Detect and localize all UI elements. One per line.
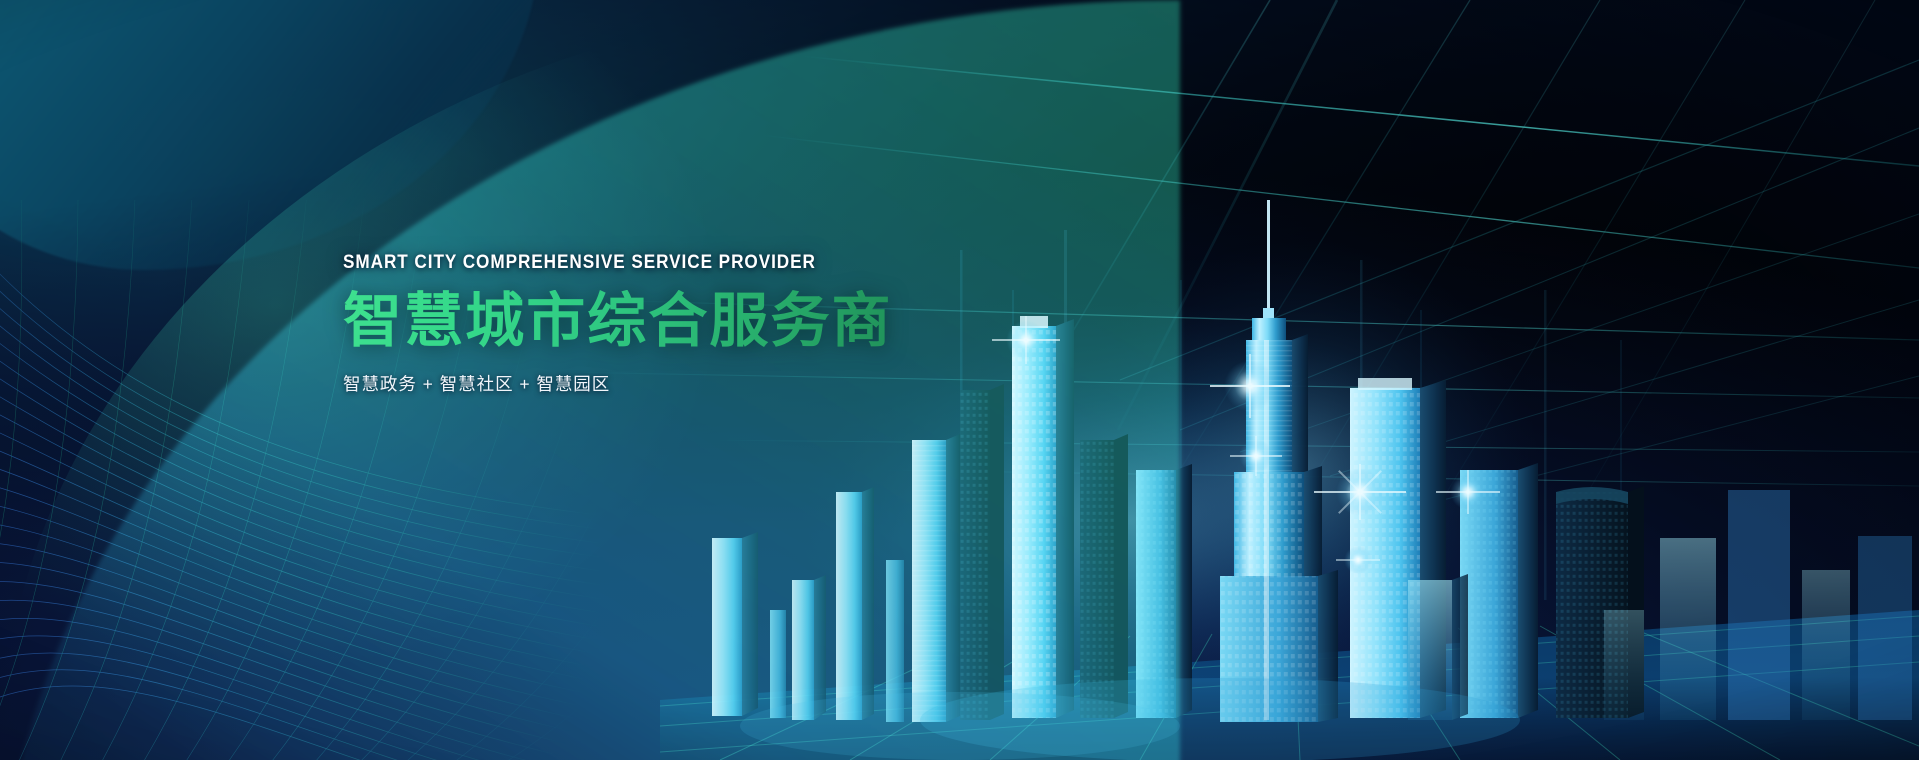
teal-swoosh-glow [0, 0, 400, 220]
glowing-3d-skyline [660, 140, 1919, 760]
top-left-teal-swoosh [0, 0, 540, 270]
hero-tagline: 智慧政务 + 智慧社区 + 智慧园区 [343, 371, 1103, 396]
perspective-grid-floor [660, 610, 1919, 760]
hero-eyebrow: SMART CITY COMPREHENSIVE SERVICE PROVIDE… [343, 253, 1012, 273]
right-tower-cluster [1350, 378, 1912, 720]
central-supertall-tower [1220, 200, 1338, 722]
foreground-block-cluster [712, 434, 960, 722]
hero-text-block: SMART CITY COMPREHENSIVE SERVICE PROVIDE… [343, 253, 1103, 396]
smart-city-hero-banner: SMART CITY COMPREHENSIVE SERVICE PROVIDE… [0, 0, 1919, 760]
hero-headline: 智慧城市综合服务商 [343, 290, 1103, 354]
